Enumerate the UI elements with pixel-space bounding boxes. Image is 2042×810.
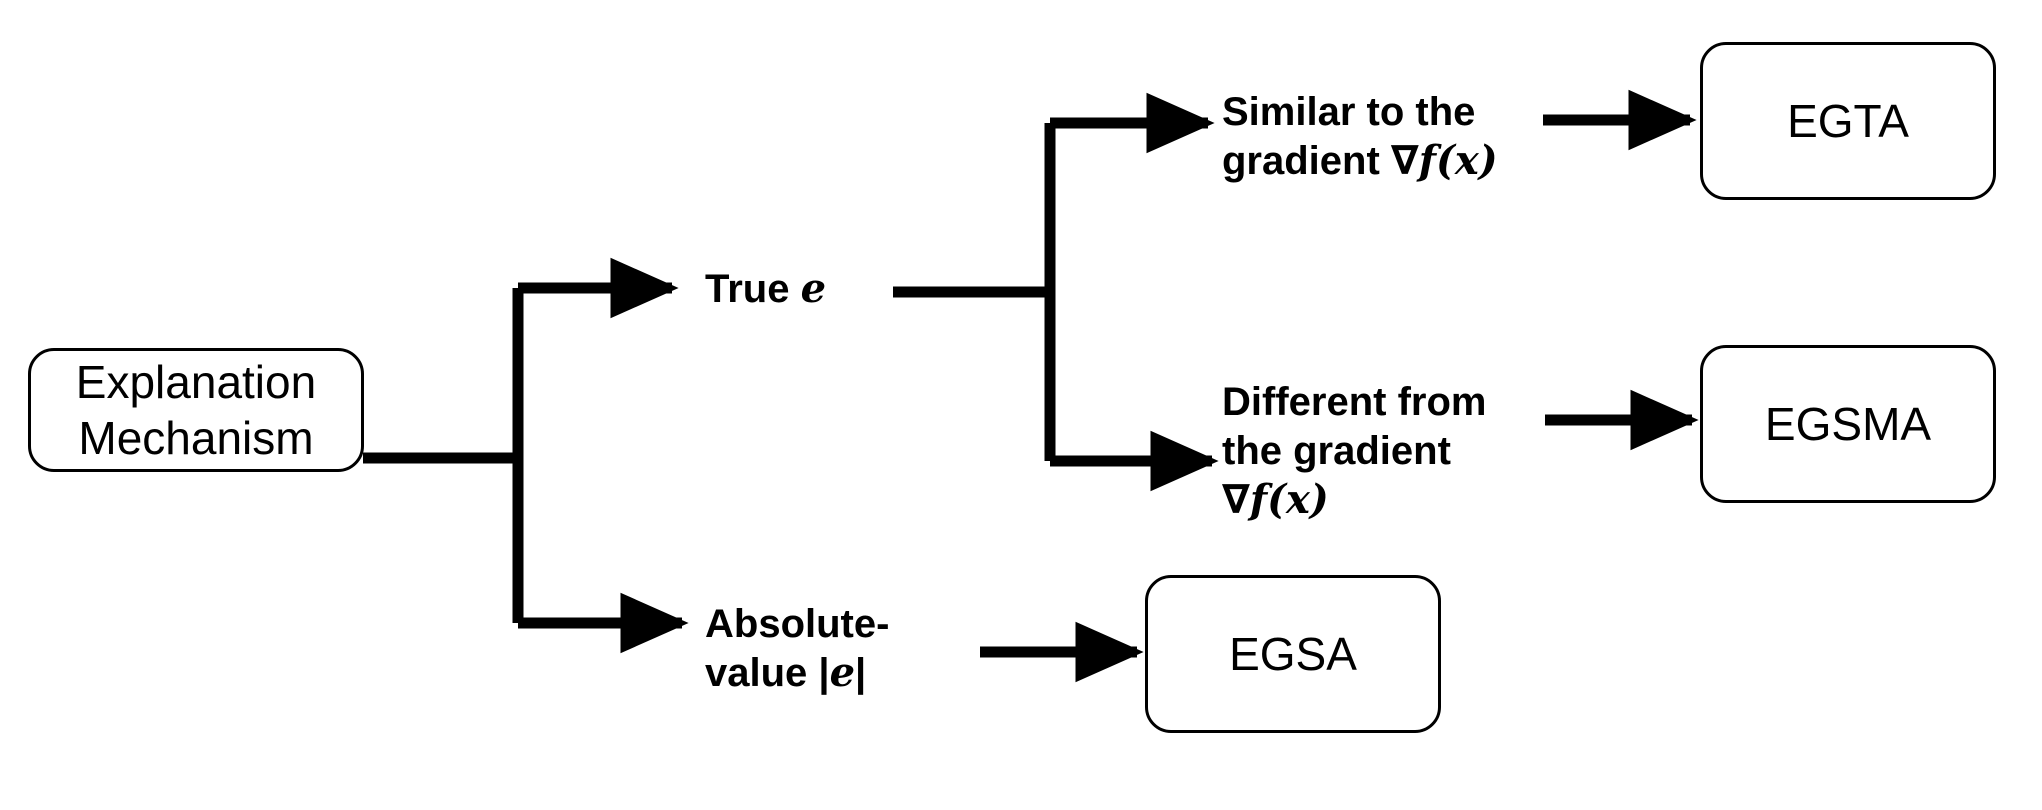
label-true-e-math: e	[801, 265, 826, 312]
label-different-math-args: (x)	[1267, 476, 1329, 523]
nabla-icon: ∇	[1222, 477, 1250, 523]
node-egsa[interactable]: EGSA	[1145, 575, 1441, 733]
label-similar-line1: Similar to the	[1222, 90, 1475, 134]
node-explanation-mechanism[interactable]: Explanation Mechanism	[28, 348, 364, 472]
label-similar-to-gradient: Similar to thegradient ∇f(x)	[1222, 88, 1522, 186]
label-similar-line2-prefix: gradient	[1222, 139, 1391, 183]
label-different-from-gradient: Different fromthe gradient∇f(x)	[1222, 378, 1522, 524]
diagram-canvas: Explanation Mechanism EGTA EGSMA EGSA Tr…	[0, 0, 2042, 810]
node-explanation-mechanism-label: Explanation Mechanism	[76, 354, 316, 466]
label-true-e-text: True	[705, 267, 801, 311]
label-absolute-value-line2-prefix: value |	[705, 651, 830, 695]
label-different-math-f: f	[1250, 476, 1267, 523]
label-different-line2: the gradient	[1222, 429, 1451, 473]
label-absolute-value: Absolute-value |e|	[705, 600, 965, 698]
node-egsma[interactable]: EGSMA	[1700, 345, 1996, 503]
node-egta-label: EGTA	[1787, 93, 1909, 149]
label-absolute-value-math: e	[830, 649, 855, 696]
label-absolute-value-line1: Absolute-	[705, 602, 889, 646]
nabla-icon: ∇	[1391, 138, 1419, 184]
label-true-e: True e	[705, 265, 826, 314]
node-egsma-label: EGSMA	[1765, 396, 1931, 452]
label-similar-math-args: (x)	[1436, 137, 1498, 184]
label-similar-math-f: f	[1419, 137, 1436, 184]
node-egsa-label: EGSA	[1229, 626, 1357, 682]
label-different-line1: Different from	[1222, 380, 1486, 424]
node-egta[interactable]: EGTA	[1700, 42, 1996, 200]
label-absolute-value-line2-suffix: |	[855, 651, 866, 695]
